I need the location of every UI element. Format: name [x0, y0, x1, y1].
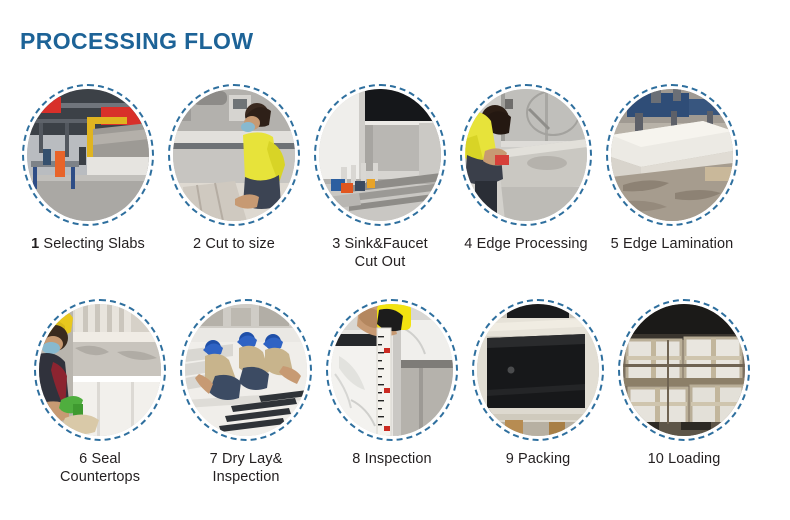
step-1-label-line1: Selecting Slabs [43, 236, 144, 252]
step-1-number: 1 [31, 236, 39, 252]
step-3-label-line1: Sink&Faucet [345, 236, 428, 252]
step-3-number: 3 [332, 236, 340, 252]
step-4-image-circle [460, 84, 592, 226]
step-4-number: 4 [464, 236, 472, 252]
process-step-8[interactable]: 8 Inspection [319, 299, 465, 468]
step-3-dashed-ring [314, 84, 446, 226]
step-6-label-line1: Seal [91, 451, 120, 467]
step-7-caption: 7 Dry Lay& Inspection [173, 450, 319, 486]
step-10-label-line1: Loading [668, 451, 720, 467]
process-step-5[interactable]: 5 Edge Lamination [599, 84, 745, 253]
step-7-dashed-ring [180, 299, 312, 441]
step-2-number: 2 [193, 236, 201, 252]
step-7-label-line1: Dry Lay& [222, 451, 282, 467]
step-4-label-line1: Edge Processing [477, 236, 588, 252]
step-6-caption: 6 Seal Countertops [27, 450, 173, 486]
process-step-3[interactable]: 3 Sink&Faucet Cut Out [307, 84, 453, 271]
step-8-image-circle [326, 299, 458, 441]
step-6-image-circle [34, 299, 166, 441]
step-7-number: 7 [210, 451, 218, 467]
step-10-number: 10 [648, 451, 664, 467]
step-6-dashed-ring [34, 299, 166, 441]
step-5-image-circle [606, 84, 738, 226]
step-1-dashed-ring [22, 84, 154, 226]
step-5-number: 5 [611, 236, 619, 252]
page-title: PROCESSING FLOW [20, 28, 253, 55]
step-1-caption: 1 Selecting Slabs [15, 235, 161, 253]
step-9-dashed-ring [472, 299, 604, 441]
step-7-image-circle [180, 299, 312, 441]
process-step-7[interactable]: 7 Dry Lay& Inspection [173, 299, 319, 486]
step-10-image-circle [618, 299, 750, 441]
step-2-dashed-ring [168, 84, 300, 226]
step-6-number: 6 [79, 451, 87, 467]
step-2-caption: 2 Cut to size [161, 235, 307, 253]
process-step-9[interactable]: 9 Packing [465, 299, 611, 468]
step-4-dashed-ring [460, 84, 592, 226]
process-step-2[interactable]: 2 Cut to size [161, 84, 307, 253]
step-4-caption: 4 Edge Processing [453, 235, 599, 253]
step-1-image-circle [22, 84, 154, 226]
step-5-dashed-ring [606, 84, 738, 226]
step-10-dashed-ring [618, 299, 750, 441]
step-7-label-line2: Inspection [173, 468, 319, 486]
process-step-4[interactable]: 4 Edge Processing [453, 84, 599, 253]
step-3-image-circle [314, 84, 446, 226]
step-5-label-line1: Edge Lamination [623, 236, 733, 252]
step-2-image-circle [168, 84, 300, 226]
step-8-number: 8 [352, 451, 360, 467]
step-2-label-line1: Cut to size [205, 236, 275, 252]
step-10-caption: 10 Loading [611, 450, 757, 468]
step-3-caption: 3 Sink&Faucet Cut Out [307, 235, 453, 271]
process-step-1[interactable]: 1 Selecting Slabs [15, 84, 161, 253]
step-9-number: 9 [506, 451, 514, 467]
step-9-image-circle [472, 299, 604, 441]
step-8-dashed-ring [326, 299, 458, 441]
step-9-label-line1: Packing [518, 451, 570, 467]
step-8-caption: 8 Inspection [319, 450, 465, 468]
step-9-caption: 9 Packing [465, 450, 611, 468]
process-step-6[interactable]: 6 Seal Countertops [27, 299, 173, 486]
step-6-label-line2: Countertops [27, 468, 173, 486]
process-step-10[interactable]: 10 Loading [611, 299, 757, 468]
step-8-label-line1: Inspection [365, 451, 432, 467]
step-3-label-line2: Cut Out [307, 253, 453, 271]
step-5-caption: 5 Edge Lamination [599, 235, 745, 253]
